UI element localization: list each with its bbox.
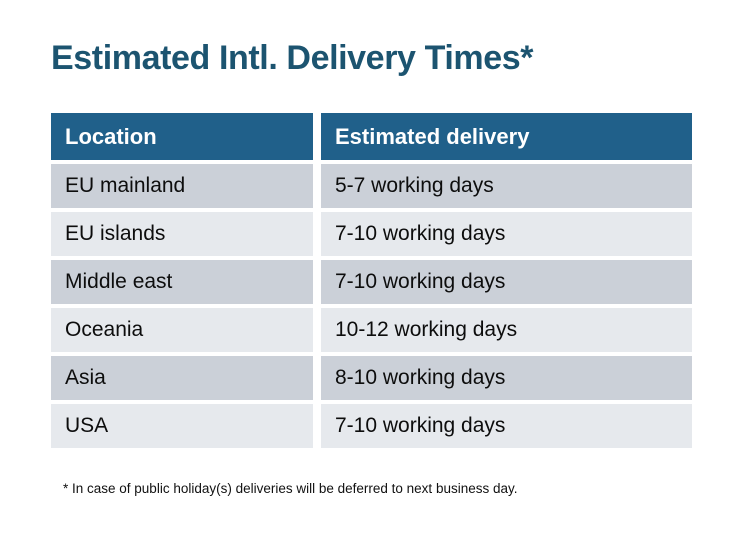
cell-estimated-delivery: 10-12 working days [321,308,692,352]
cell-location: EU islands [51,212,313,256]
cell-estimated-delivery: 5-7 working days [321,164,692,208]
cell-location: Middle east [51,260,313,304]
cell-estimated-delivery: 7-10 working days [321,260,692,304]
column-header-estimated-delivery: Estimated delivery [321,113,692,160]
footnote: * In case of public holiday(s) deliverie… [63,479,518,499]
cell-estimated-delivery: 7-10 working days [321,404,692,448]
cell-location: Asia [51,356,313,400]
delivery-times-table: Location Estimated delivery EU mainland … [51,113,692,448]
table-header-row: Location Estimated delivery [51,113,692,160]
column-header-location: Location [51,113,313,160]
cell-location: USA [51,404,313,448]
page-title: Estimated Intl. Delivery Times* [51,36,533,80]
table-row: USA 7-10 working days [51,404,692,448]
delivery-times-document: Estimated Intl. Delivery Times* Location… [0,0,745,536]
table-row: EU islands 7-10 working days [51,212,692,256]
table-row: Oceania 10-12 working days [51,308,692,352]
table-row: EU mainland 5-7 working days [51,164,692,208]
cell-location: EU mainland [51,164,313,208]
table-row: Asia 8-10 working days [51,356,692,400]
cell-estimated-delivery: 8-10 working days [321,356,692,400]
table-row: Middle east 7-10 working days [51,260,692,304]
cell-estimated-delivery: 7-10 working days [321,212,692,256]
cell-location: Oceania [51,308,313,352]
